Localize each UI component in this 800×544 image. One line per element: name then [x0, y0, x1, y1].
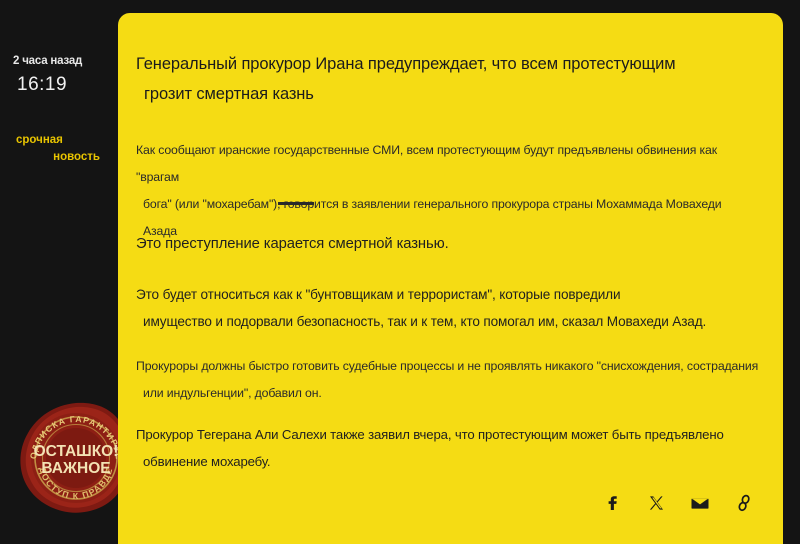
headline-line-1: Генеральный прокурор Ирана предупреждает… [136, 55, 675, 73]
paragraph-5-line-1: Прокурор Тегерана Али Салехи также заяви… [136, 421, 776, 448]
seal-title-line2: ВАЖНОЕ [41, 460, 110, 477]
article-paragraph-4: Прокуроры должны быстро готовить судебны… [136, 353, 776, 407]
article-paragraph-1: Как сообщают иранские государственные СМ… [136, 137, 752, 245]
email-share-icon[interactable] [689, 492, 711, 514]
paragraph-3-line-2: имущество и подорвали безопасность, так … [136, 308, 752, 335]
headline-line-2: грозит смертная казнь [136, 79, 726, 109]
paragraph-1-line-1: Как сообщают иранские государственные СМ… [136, 137, 752, 191]
paragraph-divider [278, 202, 314, 205]
wax-seal-logo: ПОДПИСКА ГАРАНТИРУЕТ ДОСТУП К ПРАВДЕ ОСТ… [18, 400, 134, 516]
paragraph-4-line-2: или индульгенции", добавил он. [136, 380, 776, 407]
breaking-news-tag-line1: срочная [14, 132, 106, 149]
article-statement: Это преступление карается смертной казнь… [136, 231, 449, 257]
relative-time-label: 2 часа назад [13, 55, 113, 67]
page-title: Генеральный прокурор Ирана предупреждает… [136, 49, 726, 109]
sidebar: 2 часа назад 16:19 срочная новость ПОДПИ… [0, 0, 120, 544]
copy-link-icon[interactable] [733, 492, 755, 514]
post-time: 16:19 [13, 74, 113, 96]
paragraph-5-line-2: обвинение мохаребу. [136, 448, 776, 475]
facebook-share-icon[interactable] [601, 492, 623, 514]
share-row [601, 492, 755, 514]
article-card: Генеральный прокурор Ирана предупреждает… [118, 13, 783, 544]
breaking-news-tag: срочная новость [14, 132, 106, 166]
post-meta: 2 часа назад 16:19 [13, 55, 113, 96]
breaking-news-tag-line2: новость [14, 149, 106, 166]
paragraph-3-line-1: Это будет относиться как к "бунтовщикам … [136, 281, 752, 308]
seal-title-line1: ОСТАШКО! [34, 443, 119, 460]
x-twitter-share-icon[interactable] [645, 492, 667, 514]
article-paragraph-5: Прокурор Тегерана Али Салехи также заяви… [136, 421, 776, 475]
article-paragraph-3: Это будет относиться как к "бунтовщикам … [136, 281, 752, 335]
paragraph-4-line-1: Прокуроры должны быстро готовить судебны… [136, 353, 776, 380]
